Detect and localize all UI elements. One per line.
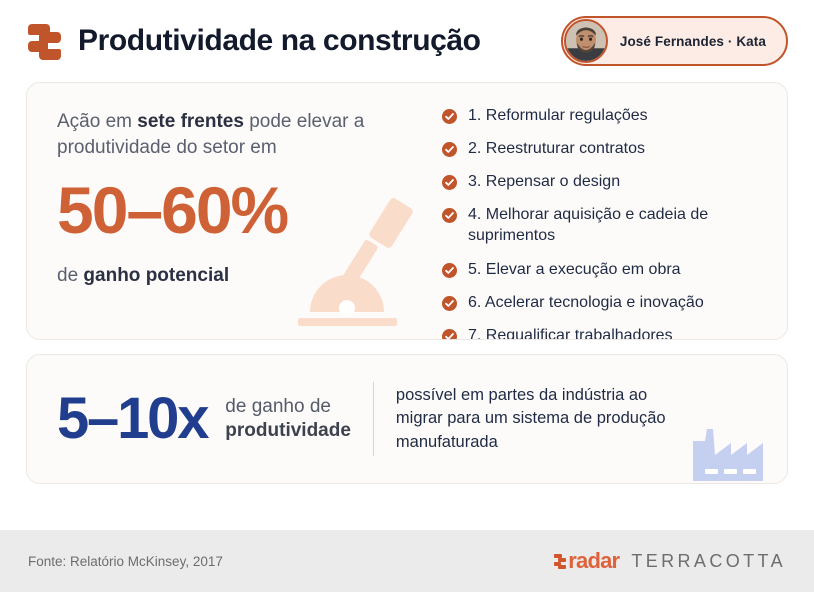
checklist-label: 4. Melhorar aquisição e cadeia de suprim… [468,204,769,246]
secondary-stat-label: de ganho de produtividade [225,395,351,443]
secondary-description: possível em partes da indústria ao migra… [396,384,696,454]
list-item[interactable]: 6. Acelerar tecnologia e inovação [442,292,769,313]
radar-z-mark-icon [26,22,64,62]
checklist-label: 3. Repensar o design [468,171,620,192]
checklist-label: 6. Acelerar tecnologia e inovação [468,292,704,313]
author-badge[interactable]: José Fernandes · Kata [561,16,788,66]
checklist-label: 2. Reestruturar contratos [468,138,645,159]
main-card-left: Ação em sete frentes pode elevar a produ… [27,83,432,339]
list-item[interactable]: 2. Reestruturar contratos [442,138,769,159]
lead-prefix: Ação em [57,111,137,132]
lead-bold: sete frentes [137,111,244,132]
main-stat-card: Ação em sete frentes pode elevar a produ… [26,82,788,340]
lead-text: Ação em sete frentes pode elevar a produ… [57,109,422,161]
author-name: José Fernandes · Kata [620,34,766,49]
checklist-label: 5. Elevar a execução em obra [468,259,681,280]
content-area: Ação em sete frentes pode elevar a produ… [0,82,814,516]
secondary-headline-stat: 5–10x [57,390,207,448]
vertical-divider [373,382,374,456]
secondary-label-line1: de ganho de [225,396,331,417]
check-circle-icon [442,109,457,124]
radar-z-mark-icon [553,554,566,569]
check-circle-icon [442,208,457,223]
list-item[interactable]: 4. Melhorar aquisição e cadeia de suprim… [442,204,769,246]
main-card-right: 1. Reformular regulações 2. Reestruturar… [432,83,787,339]
list-item[interactable]: 3. Repensar o design [442,171,769,192]
footer-source: Fonte: Relatório McKinsey, 2017 [28,554,223,569]
checklist-label: 1. Reformular regulações [468,105,648,126]
list-item[interactable]: 5. Elevar a execução em obra [442,259,769,280]
infographic-page: Produtividade na construção [0,0,814,592]
list-item[interactable]: 7. Requalificar trabalhadores [442,325,769,340]
factory-icon [691,425,769,483]
page-title: Produtividade na construção [78,24,481,58]
footer-logo-radar: radar [568,548,619,574]
checklist-label: 7. Requalificar trabalhadores [468,325,673,340]
avatar-photo [566,21,606,61]
sub-prefix: de [57,265,83,286]
headline-stat: 50–60% [57,177,422,243]
list-item[interactable]: 1. Reformular regulações [442,105,769,126]
checklist: 1. Reformular regulações 2. Reestruturar… [442,105,769,340]
footer-logo[interactable]: radar TERRACOTTA [553,548,786,574]
footer: Fonte: Relatório McKinsey, 2017 radar TE… [0,530,814,592]
check-circle-icon [442,142,457,157]
footer-logo-terracotta: TERRACOTTA [631,551,786,572]
header: Produtividade na construção [0,0,814,82]
check-circle-icon [442,329,457,340]
check-circle-icon [442,175,457,190]
secondary-label-line2: produtividade [225,420,351,441]
check-circle-icon [442,263,457,278]
headline-sub: de ganho potencial [57,265,422,287]
sub-bold: ganho potencial [83,265,229,286]
check-circle-icon [442,296,457,311]
secondary-stat-card: 5–10x de ganho de produtividade possível… [26,354,788,484]
avatar [564,19,608,63]
